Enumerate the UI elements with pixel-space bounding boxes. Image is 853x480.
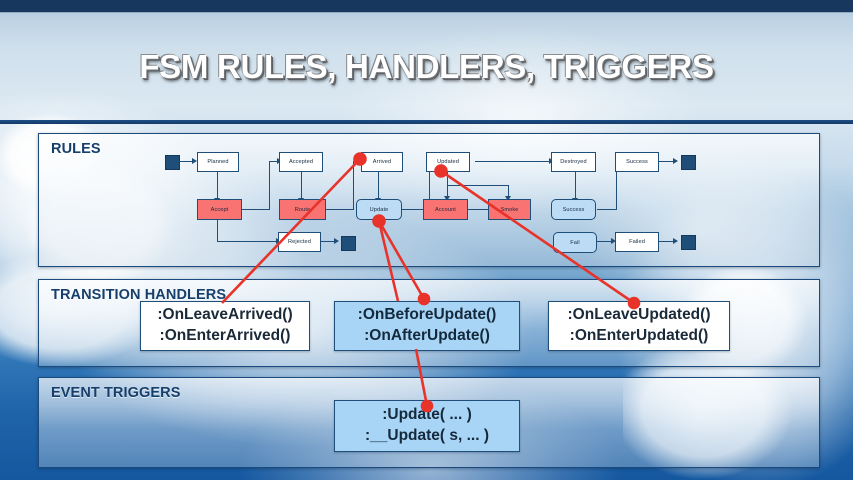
arrow-successS-end — [673, 158, 678, 164]
trigger-update-line1: :Update( ... ) — [382, 405, 472, 426]
trigger-callout-update[interactable]: :Update( ... ) :__Update( s, ... ) — [334, 400, 520, 452]
fsm-node-accept[interactable]: Accept — [197, 199, 242, 220]
fsm-node-account[interactable]: Account — [423, 199, 468, 220]
fsm-node-planned[interactable]: Planned — [197, 152, 239, 172]
edge-planned-accept — [217, 171, 218, 201]
edge-accept-up — [242, 209, 270, 210]
handler-callout-update[interactable]: :OnBeforeUpdate() :OnAfterUpdate() — [334, 301, 520, 351]
handler-update-line1: :OnBeforeUpdate() — [358, 305, 497, 326]
fsm-node-route[interactable]: Route — [279, 199, 326, 220]
edge-arrived-update — [378, 171, 379, 201]
arrow-failed-end — [673, 238, 678, 244]
edge-successS-end — [659, 161, 674, 162]
title-underline — [0, 120, 853, 124]
arrow-rejected-end — [334, 238, 339, 244]
edge-start-planned — [178, 161, 193, 162]
handler-arrived-line1: :OnLeaveArrived() — [157, 305, 292, 326]
fsm-node-success-action[interactable]: Success — [551, 199, 596, 220]
fsm-end-node-rejected — [341, 236, 356, 251]
edge-route-up — [326, 209, 354, 210]
fsm-node-smoke[interactable]: Smoke — [488, 199, 531, 220]
fsm-end-node-success — [681, 155, 696, 170]
handler-callout-updated[interactable]: :OnLeaveUpdated() :OnEnterUpdated() — [548, 301, 730, 351]
fsm-end-node-failed — [681, 235, 696, 250]
edge-route-up2 — [353, 161, 354, 210]
slide-canvas: FSM RULES, HANDLERS, TRIGGERS RULES — [0, 0, 853, 480]
top-accent-bar — [0, 0, 853, 12]
edge-successA-up — [597, 209, 617, 210]
handler-arrived-line2: :OnEnterArrived() — [160, 326, 291, 347]
handler-updated-line2: :OnEnterUpdated() — [570, 326, 709, 347]
fsm-node-updated[interactable]: Updated — [426, 152, 470, 172]
edge-fail-failed — [597, 241, 612, 242]
fsm-node-fail[interactable]: Fail — [553, 232, 597, 253]
edge-failed-end — [659, 241, 674, 242]
edge-updated-smoke-h — [447, 185, 509, 186]
fsm-node-destroyed[interactable]: Destroyed — [551, 152, 596, 172]
edge-accept-rejected-v — [217, 219, 218, 242]
edge-destroyed-successA — [575, 171, 576, 201]
section-title-rules: RULES — [51, 141, 101, 157]
section-title-triggers: EVENT TRIGGERS — [51, 385, 181, 401]
edge-accepted-route — [301, 171, 302, 201]
page-title: FSM RULES, HANDLERS, TRIGGERS — [0, 48, 853, 86]
fsm-node-arrived[interactable]: Arrived — [361, 152, 403, 172]
handler-update-line2: :OnAfterUpdate() — [364, 326, 490, 347]
fsm-node-success-state[interactable]: Success — [615, 152, 659, 172]
fsm-node-update[interactable]: Update — [356, 199, 402, 220]
handler-updated-line1: :OnLeaveUpdated() — [568, 305, 711, 326]
edge-accept-up2 — [269, 161, 270, 210]
fsm-node-rejected[interactable]: Rejected — [278, 232, 321, 252]
edge-updated-destroyed — [475, 161, 551, 162]
fsm-node-failed[interactable]: Failed — [615, 232, 659, 252]
fsm-start-node — [165, 155, 180, 170]
fsm-node-accepted[interactable]: Accepted — [279, 152, 323, 172]
edge-accept-rejected-h — [217, 241, 277, 242]
handler-callout-arrived[interactable]: :OnLeaveArrived() :OnEnterArrived() — [140, 301, 310, 351]
trigger-update-line2: :__Update( s, ... ) — [365, 426, 489, 447]
